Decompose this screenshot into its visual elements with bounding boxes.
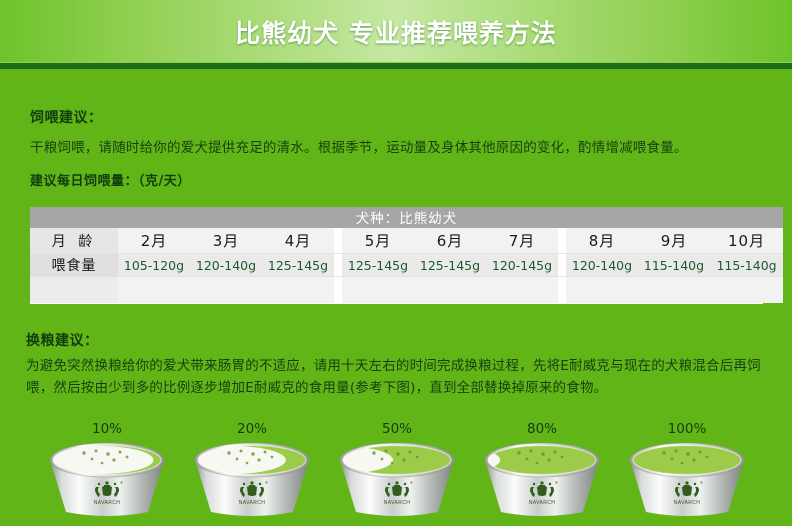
feeding-table: 犬种：比熊幼犬 月 龄 2月 3月 4月 5月 6月 7月 8月 9月 10月 … bbox=[30, 207, 783, 303]
feeding-table-wrapper: 犬种：比熊幼犬 月 龄 2月 3月 4月 5月 6月 7月 8月 9月 10月 … bbox=[30, 207, 763, 304]
table-cell-empty bbox=[118, 277, 190, 304]
table-cell-amount: 115-140g bbox=[710, 254, 783, 277]
table-cell-empty bbox=[486, 277, 558, 304]
table-cell-amount: 115-140g bbox=[638, 254, 710, 277]
table-cell-month: 10月 bbox=[710, 228, 783, 254]
bowl-percent-label: 100% bbox=[612, 420, 762, 438]
changing-paragraph: 为避免突然换粮给你的爱犬带来肠胃的不适应，请用十天左右的时间完成换粮过程，先将E… bbox=[26, 355, 770, 399]
table-cell-empty bbox=[342, 277, 414, 304]
table-cell-month: 5月 bbox=[342, 228, 414, 254]
svg-text:®: ® bbox=[410, 480, 413, 485]
changing-section-title: 换粮建议： bbox=[26, 330, 99, 350]
table-group-gap bbox=[334, 228, 342, 254]
bowl-percent-label: 10% bbox=[32, 420, 182, 438]
svg-text:NAVARCH: NAVARCH bbox=[529, 500, 556, 506]
bowl-icon: NAVARCH® bbox=[612, 438, 762, 524]
bowl-item: 10%NAVARCH® bbox=[32, 420, 182, 524]
row-header-amount: 喂食量 bbox=[30, 254, 118, 277]
svg-text:NAVARCH: NAVARCH bbox=[674, 500, 701, 506]
svg-text:®: ® bbox=[555, 480, 558, 485]
svg-text:NAVARCH: NAVARCH bbox=[94, 500, 121, 506]
table-row-filler bbox=[30, 277, 783, 304]
row-header-age: 月 龄 bbox=[30, 228, 118, 254]
transition-bowls: 10%NAVARCH®20%NAVARCH®50%NAVARCH®80%NAVA… bbox=[0, 420, 792, 526]
table-cell-month: 4月 bbox=[262, 228, 334, 254]
table-cell-empty bbox=[638, 277, 710, 304]
table-cell-month: 9月 bbox=[638, 228, 710, 254]
svg-text:®: ® bbox=[700, 480, 703, 485]
bowl-item: 100%NAVARCH® bbox=[612, 420, 762, 524]
bowl-percent-label: 20% bbox=[177, 420, 327, 438]
table-cell-amount: 125-145g bbox=[414, 254, 486, 277]
table-cell-empty bbox=[566, 277, 638, 304]
feeding-section-title: 饲喂建议： bbox=[30, 107, 103, 127]
bowl-percent-label: 80% bbox=[467, 420, 617, 438]
table-cell-empty bbox=[414, 277, 486, 304]
table-cell-amount: 120-140g bbox=[566, 254, 638, 277]
table-cell-amount: 120-145g bbox=[486, 254, 558, 277]
table-cell-empty bbox=[190, 277, 262, 304]
table-cell-empty bbox=[262, 277, 334, 304]
table-group-gap bbox=[334, 277, 342, 304]
bowl-item: 50%NAVARCH® bbox=[322, 420, 472, 524]
table-group-gap bbox=[558, 254, 566, 277]
table-cell-amount: 125-145g bbox=[342, 254, 414, 277]
table-cell-amount: 125-145g bbox=[262, 254, 334, 277]
bowl-percent-label: 50% bbox=[322, 420, 472, 438]
page-header: 比熊幼犬 专业推荐喂养方法 bbox=[0, 0, 792, 63]
bowl-icon: NAVARCH® bbox=[322, 438, 472, 524]
svg-text:NAVARCH: NAVARCH bbox=[239, 500, 266, 506]
svg-text:NAVARCH: NAVARCH bbox=[384, 500, 411, 506]
table-group-gap bbox=[558, 228, 566, 254]
header-dark-rule bbox=[0, 63, 792, 69]
table-row: 月 龄 2月 3月 4月 5月 6月 7月 8月 9月 10月 bbox=[30, 228, 783, 254]
table-group-gap bbox=[558, 277, 566, 304]
bowl-item: 20%NAVARCH® bbox=[177, 420, 327, 524]
table-row: 喂食量 105-120g 120-140g 125-145g 125-145g … bbox=[30, 254, 783, 277]
svg-text:®: ® bbox=[120, 480, 123, 485]
table-caption-row: 犬种：比熊幼犬 bbox=[30, 207, 783, 228]
bowl-icon: NAVARCH® bbox=[467, 438, 617, 524]
bowl-icon: NAVARCH® bbox=[177, 438, 327, 524]
svg-text:®: ® bbox=[265, 480, 268, 485]
table-caption: 犬种：比熊幼犬 bbox=[30, 207, 783, 228]
table-cell-month: 6月 bbox=[414, 228, 486, 254]
table-cell-empty bbox=[710, 277, 783, 304]
table-cell-month: 2月 bbox=[118, 228, 190, 254]
feeding-paragraph: 干粮饲喂，请随时给你的爱犬提供充足的清水。根据季节，运动量及身体其他原因的变化，… bbox=[30, 137, 770, 159]
table-group-gap bbox=[334, 254, 342, 277]
changing-paragraph-line1: 为避免突然换粮给你的爱犬带来肠胃的不适应，请用十天左右的时间完成换粮过程，先将E… bbox=[26, 358, 706, 374]
table-cell-month: 8月 bbox=[566, 228, 638, 254]
table-cell-month: 7月 bbox=[486, 228, 558, 254]
bowl-item: 80%NAVARCH® bbox=[467, 420, 617, 524]
table-cell-amount: 105-120g bbox=[118, 254, 190, 277]
table-cell-amount: 120-140g bbox=[190, 254, 262, 277]
page-title: 比熊幼犬 专业推荐喂养方法 bbox=[0, 0, 792, 63]
bowl-icon: NAVARCH® bbox=[32, 438, 182, 524]
table-cell-month: 3月 bbox=[190, 228, 262, 254]
daily-amount-label: 建议每日饲喂量：（克/天） bbox=[30, 170, 191, 189]
table-cell-empty bbox=[30, 277, 118, 304]
